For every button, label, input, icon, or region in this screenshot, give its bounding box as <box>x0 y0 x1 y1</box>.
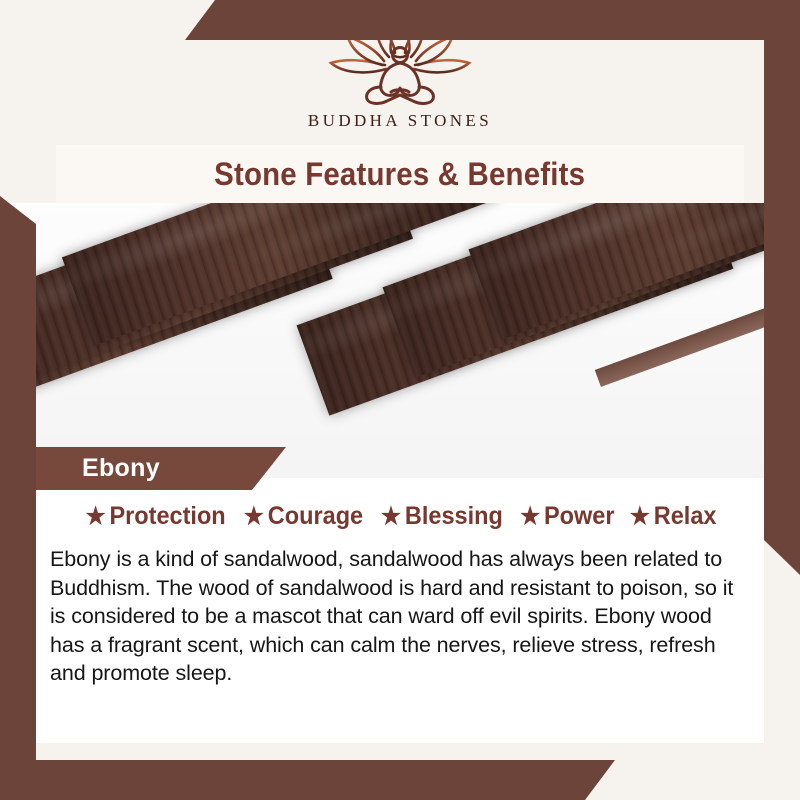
benefit-item: ★ Power <box>520 502 615 531</box>
wood-planks-illustration <box>0 203 800 478</box>
benefit-item: ★ Courage <box>244 502 363 531</box>
benefit-label: Relax <box>654 502 717 531</box>
stone-description: Ebony is a kind of sandalwood, sandalwoo… <box>44 545 756 688</box>
stone-name: Ebony <box>82 454 160 483</box>
benefit-label: Power <box>544 502 615 531</box>
frame-band-bottom <box>0 760 800 800</box>
stone-name-banner: Ebony <box>18 447 286 490</box>
title-banner: Stone Features & Benefits <box>56 145 744 203</box>
star-icon: ★ <box>630 502 650 531</box>
brand-header: BUDDHA STONES <box>0 0 800 145</box>
star-icon: ★ <box>381 502 401 531</box>
benefit-item: ★ Relax <box>630 502 717 531</box>
benefits-list: ★ Protection ★ Courage ★ Blessing ★ Powe… <box>44 502 756 531</box>
product-hero-image <box>0 203 800 478</box>
benefit-item: ★ Blessing <box>381 502 503 531</box>
page-title: Stone Features & Benefits <box>214 156 585 193</box>
star-icon: ★ <box>520 502 540 531</box>
lotus-meditation-icon <box>325 15 475 107</box>
stone-info-panel: ★ Protection ★ Courage ★ Blessing ★ Powe… <box>36 478 764 743</box>
star-icon: ★ <box>85 502 105 531</box>
benefit-label: Blessing <box>405 502 503 531</box>
benefit-label: Courage <box>268 502 363 531</box>
brand-name: BUDDHA STONES <box>308 111 492 131</box>
benefit-label: Protection <box>109 502 225 531</box>
benefit-item: ★ Protection <box>85 502 225 531</box>
star-icon: ★ <box>244 502 264 531</box>
